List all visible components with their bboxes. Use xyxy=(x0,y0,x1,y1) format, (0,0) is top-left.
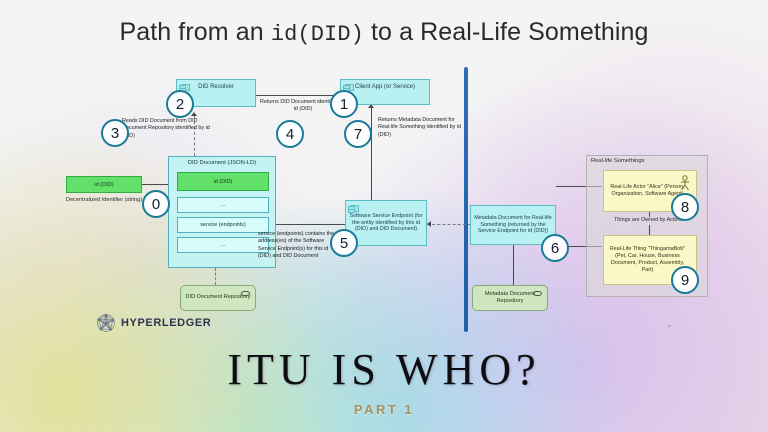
connector-meta-to-endpoint xyxy=(427,224,471,225)
step-marker-7[interactable]: 7 xyxy=(344,120,372,148)
did-document-field-id: id (DID) xyxy=(177,172,269,191)
connector-endpoint-to-client xyxy=(371,107,372,200)
step-marker-6[interactable]: 6 xyxy=(541,234,569,262)
credit-text: ar xyxy=(668,323,672,328)
connector-service-to-endpoint xyxy=(268,224,346,225)
arrowhead-meta-to-endpoint xyxy=(427,221,431,227)
connector-actor-down xyxy=(649,212,650,217)
id-did-caption: Decentralized Identifier (string) xyxy=(62,197,146,204)
hyperledger-mark-icon xyxy=(96,313,116,333)
step-marker-8[interactable]: 8 xyxy=(671,193,699,221)
node-metadata-document-repository[interactable]: Metadata Document Repository xyxy=(472,285,548,311)
annotation-service-endpoints: serivce (endpoints) contains the address… xyxy=(258,231,336,260)
step-marker-1[interactable]: 1 xyxy=(330,90,358,118)
annotation-returns-metadata-document: Returns Metadata Document for Real-life … xyxy=(378,117,466,139)
node-software-service-endpoint-label: Software Service Endpoint (for the entit… xyxy=(349,213,423,234)
node-did-resolver-label: DID Resolver xyxy=(180,82,252,92)
vertical-divider xyxy=(464,67,468,332)
database-icon xyxy=(533,291,542,296)
node-id-did[interactable]: id (DID) xyxy=(66,176,142,193)
banner-headline: ITU IS WHO? xyxy=(0,344,768,395)
connector-doc-to-repo xyxy=(215,268,216,285)
slide-canvas: Path from an id(DID) to a Real-Life Some… xyxy=(0,0,768,432)
annotation-reads-did-document: Reads DID Document from DID Document Rep… xyxy=(122,118,212,140)
person-icon xyxy=(679,175,691,191)
step-marker-0[interactable]: 0 xyxy=(142,190,170,218)
banner-subtitle: PART 1 xyxy=(0,402,768,417)
step-marker-5[interactable]: 5 xyxy=(330,229,358,257)
did-repo-label: DID Document Repository xyxy=(186,294,251,301)
did-document-field-ellipsis-1: ... xyxy=(177,197,269,213)
node-metadata-document-label: Metadata Document for Real-life Somethin… xyxy=(474,215,552,236)
node-did-document-repository[interactable]: DID Document Repository xyxy=(180,285,256,311)
step-marker-2[interactable]: 2 xyxy=(166,90,194,118)
real-life-panel-title: Real-life Somethings xyxy=(591,158,645,164)
connector-down-to-thing xyxy=(649,225,650,235)
connector-resolver-to-client xyxy=(256,95,336,96)
database-icon xyxy=(241,291,250,296)
hyperledger-wordmark: HYPERLEDGER xyxy=(121,317,211,329)
connector-meta-to-repo xyxy=(513,245,514,285)
architecture-diagram: DID Resolver Client App (or Service) DID… xyxy=(0,0,768,340)
hyperledger-logo: HYPERLEDGER xyxy=(96,313,211,333)
did-document-field-service: service (endpoints) xyxy=(177,217,269,233)
arrowhead-doc-to-resolver xyxy=(191,112,197,116)
step-marker-4[interactable]: 4 xyxy=(276,120,304,148)
did-document-title: DID Document (JSON-LD) xyxy=(169,160,275,166)
component-icon xyxy=(350,205,359,212)
step-marker-9[interactable]: 9 xyxy=(671,266,699,294)
step-marker-3[interactable]: 3 xyxy=(101,119,129,147)
did-document-field-ellipsis-2: ... xyxy=(177,237,269,253)
node-client-app-label: Client App (or Service) xyxy=(344,82,426,92)
